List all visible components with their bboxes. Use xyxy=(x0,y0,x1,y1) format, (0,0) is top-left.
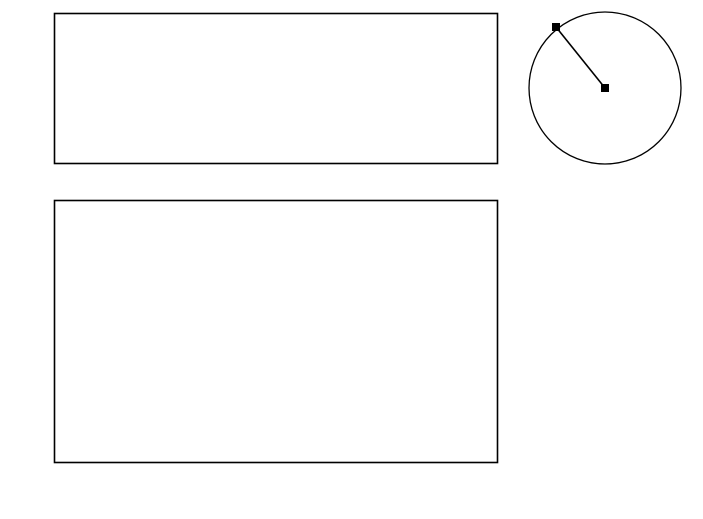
dispersion-plot-frame xyxy=(55,14,498,164)
dispersion-plot xyxy=(55,14,498,164)
figure-root xyxy=(0,0,703,519)
source-station-marker xyxy=(553,24,560,31)
figure-canvas xyxy=(0,0,703,519)
station-map-inset xyxy=(529,12,681,164)
receiver-station-marker xyxy=(602,85,609,92)
cross-correlation-spectrum-plot xyxy=(0,0,498,463)
map-path-line xyxy=(556,27,605,88)
spectrum-plot-frame xyxy=(55,201,498,463)
